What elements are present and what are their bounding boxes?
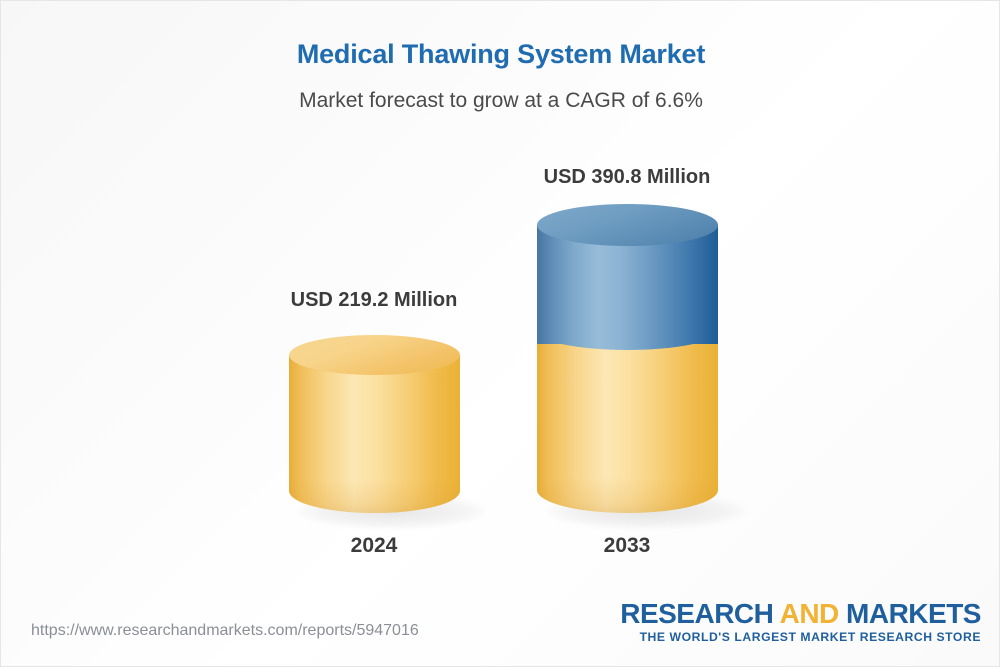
value-label-2024: USD 219.2 Million [274,289,474,312]
source-url[interactable]: https://www.researchandmarkets.com/repor… [31,622,419,640]
page-title: Medical Thawing System Market [1,39,1000,70]
value-label-2033: USD 390.8 Million [527,166,727,189]
bar-cylinder-2024 [289,335,460,513]
category-label-2033: 2033 [527,534,727,558]
brand-name-research: RESEARCH [620,598,779,629]
brand-tagline: THE WORLD'S LARGEST MARKET RESEARCH STOR… [620,630,981,644]
brand-name-and: AND [780,598,839,629]
bar-2024-top-cap [289,335,460,375]
bar-2033-base-bottom-shade [537,477,718,513]
bar-2033-top-cap [537,204,718,246]
bar-cylinder-2033 [537,204,718,513]
chart-canvas: Medical Thawing System Market Market for… [0,0,1000,667]
bar-2024-bottom-shade [289,479,460,513]
brand-name-markets: MARKETS [839,598,981,629]
chart-subtitle: Market forecast to grow at a CAGR of 6.6… [1,89,1000,113]
category-label-2024: 2024 [274,534,474,558]
brand-logo: RESEARCH AND MARKETS THE WORLD'S LARGEST… [620,599,981,644]
brand-name: RESEARCH AND MARKETS [620,599,981,628]
